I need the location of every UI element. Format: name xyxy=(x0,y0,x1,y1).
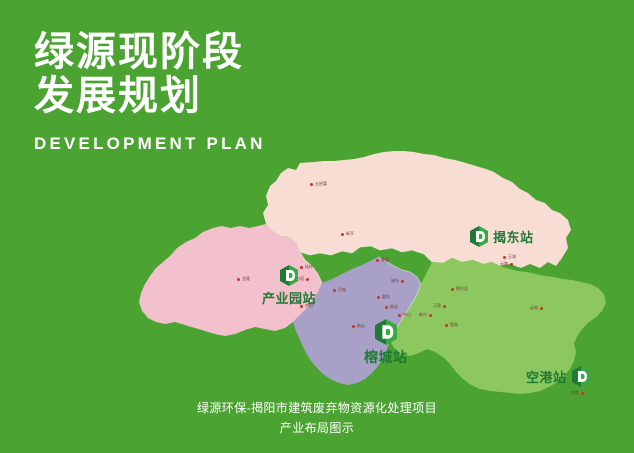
station-marker-jiedong[interactable]: 揭东站 xyxy=(470,226,534,247)
town-label: 玉窖 xyxy=(433,304,441,308)
town-dot-icon xyxy=(352,325,355,328)
town-label: 月城 xyxy=(338,288,346,292)
town-dot-icon xyxy=(341,233,344,236)
town-label: 云路 xyxy=(500,262,508,266)
station-label-jiedong: 揭东站 xyxy=(493,227,534,246)
town-label: 霖磐 xyxy=(381,258,389,262)
town-dot-icon xyxy=(377,296,380,299)
caption-line-2: 产业布局图示 xyxy=(0,418,634,438)
poster-root: 五经富新亨霖磐玉湖云路桂岭龙尾白塔月城锡场揭东县云南磐东登岗玉窖曲溪中山新兴梅云… xyxy=(0,0,634,453)
town-dot-icon xyxy=(503,256,506,259)
town-label: 登岗 xyxy=(450,323,458,327)
town-dot-icon xyxy=(398,314,401,317)
town-marker: 月城 xyxy=(333,288,346,292)
lvyuan-logo-icon xyxy=(572,366,590,387)
station-marker-chanyeyuan[interactable]: 产业园站 xyxy=(262,265,316,307)
town-marker: 龙尾 xyxy=(237,277,250,281)
town-dot-icon xyxy=(237,278,240,281)
town-marker: 云南 xyxy=(530,306,543,310)
town-marker: 锡场 xyxy=(391,279,404,283)
station-marker-rongcheng[interactable]: 榕城站 xyxy=(364,319,408,367)
map-region-north[interactable] xyxy=(263,151,571,268)
town-dot-icon xyxy=(429,314,432,317)
town-marker: 地都 xyxy=(571,391,584,395)
town-label: 五经富 xyxy=(315,182,327,186)
town-marker: 曲溪 xyxy=(385,305,398,309)
town-marker: 玉湖 xyxy=(503,255,516,259)
town-dot-icon xyxy=(401,280,404,283)
town-dot-icon xyxy=(443,305,446,308)
town-marker: 登岗 xyxy=(445,323,458,327)
town-label: 中山 xyxy=(403,313,411,317)
station-marker-konggang[interactable]: 空港站 xyxy=(526,366,590,387)
town-marker: 磐东 xyxy=(377,295,390,299)
town-marker: 新兴 xyxy=(419,313,432,317)
town-dot-icon xyxy=(333,289,336,292)
caption-line-1: 绿源环保-揭阳市建筑废弃物资源化处理项目 xyxy=(0,398,634,418)
town-marker: 云路 xyxy=(500,262,513,266)
title-block: 绿源现阶段 发展规划 DEVELOPMENT PLAN xyxy=(34,30,266,154)
town-label: 龙尾 xyxy=(242,277,250,281)
town-label: 玉湖 xyxy=(508,255,516,259)
town-label: 揭东县 xyxy=(456,287,468,291)
town-marker: 新亨 xyxy=(341,232,354,236)
lvyuan-logo-icon xyxy=(470,226,488,247)
town-dot-icon xyxy=(310,183,313,186)
station-label-chanyeyuan: 产业园站 xyxy=(262,288,316,307)
town-label: 曲溪 xyxy=(390,305,398,309)
town-marker: 霖磐 xyxy=(376,258,389,262)
town-label: 云南 xyxy=(530,306,538,310)
lvyuan-logo-icon xyxy=(280,265,298,286)
town-dot-icon xyxy=(540,307,543,310)
town-marker: 五经富 xyxy=(310,182,327,186)
page-title-line-2: 发展规划 xyxy=(34,74,266,118)
town-dot-icon xyxy=(581,392,584,395)
lvyuan-logo-icon xyxy=(375,319,397,345)
caption-block: 绿源环保-揭阳市建筑废弃物资源化处理项目 产业布局图示 xyxy=(0,398,634,438)
town-dot-icon xyxy=(385,306,388,309)
station-label-rongcheng: 榕城站 xyxy=(364,347,408,367)
town-label: 地都 xyxy=(571,391,579,395)
town-dot-icon xyxy=(376,259,379,262)
town-dot-icon xyxy=(451,288,454,291)
town-label: 锡场 xyxy=(391,279,399,283)
page-title-line-1: 绿源现阶段 xyxy=(34,30,266,74)
town-dot-icon xyxy=(510,263,513,266)
town-marker: 中山 xyxy=(398,313,411,317)
town-marker: 揭东县 xyxy=(451,287,468,291)
town-label: 新兴 xyxy=(419,313,427,317)
page-subtitle: DEVELOPMENT PLAN xyxy=(34,134,266,154)
town-marker: 玉窖 xyxy=(433,304,446,308)
town-label: 磐东 xyxy=(382,295,390,299)
town-dot-icon xyxy=(445,324,448,327)
town-label: 新亨 xyxy=(346,232,354,236)
station-label-konggang: 空港站 xyxy=(526,367,567,386)
